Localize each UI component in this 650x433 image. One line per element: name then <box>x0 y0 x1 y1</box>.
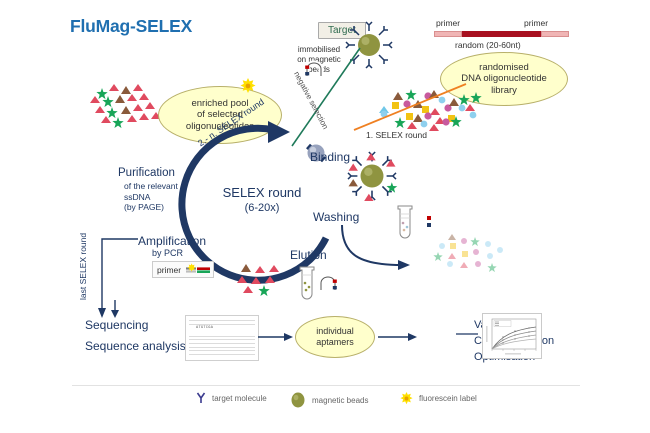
step-amplification-label: Amplification <box>138 234 206 248</box>
binding-curve-chart <box>482 313 542 359</box>
legend-label-magnetic-beads: magnetic beads <box>312 396 368 405</box>
last-round-label: last SELEX round <box>78 233 89 300</box>
page-title: FluMag-SELEX <box>70 16 192 37</box>
library-primer-right-label: primer <box>524 18 548 28</box>
binding-curve-plot <box>483 314 541 358</box>
fluorescein-label-icon <box>400 392 413 405</box>
library-strand-schematic <box>434 31 569 37</box>
cycle-center-title: SELEX round <box>197 185 327 200</box>
last-round-line1: last <box>78 287 88 300</box>
step-sequence-analysis-label: Sequence analysis <box>85 339 186 353</box>
legend-item-target-molecule: target molecule <box>196 392 267 404</box>
library-ellipse-line3: library <box>491 85 517 97</box>
enriched-oligo-pool <box>92 82 164 130</box>
legend-label-fluorescein: fluorescein label <box>419 394 477 403</box>
eluted-oligo-pool <box>236 262 286 296</box>
step-binding-label: Binding <box>310 150 350 164</box>
legend-divider <box>72 385 580 386</box>
step-amplification-sublabel: by PCR <box>152 248 183 258</box>
library-ellipse-line1: randomised <box>479 62 529 74</box>
legend-item-magnetic-beads: magnetic beads <box>290 392 368 408</box>
binding-bead-icon <box>348 152 396 200</box>
elution-magnet-icon <box>318 276 338 292</box>
primer-box-label: primer <box>157 265 181 275</box>
legend-item-fluorescein-label: fluorescein label <box>400 392 477 405</box>
sequence-to-aptamers-arrow <box>258 332 294 342</box>
first-round-arrow <box>348 82 472 134</box>
first-round-label: 1. SELEX round <box>366 130 427 140</box>
aptamers-line2: aptamers <box>316 337 354 348</box>
target-molecule-icon <box>196 392 206 404</box>
elution-tube-icon <box>294 266 320 308</box>
fluorescein-label-icon <box>240 78 256 94</box>
primer-box: primer <box>152 261 214 278</box>
step-elution-label: Elution <box>290 248 327 262</box>
step-purification-label: Purification <box>118 167 175 179</box>
enriched-pool-line1: enriched pool <box>191 98 248 110</box>
step-purification-sublabel: of the relevant ssDNA (by PAGE) <box>124 181 178 213</box>
cycle-center-subtitle: (6-20x) <box>197 202 327 214</box>
sequence-document: ATGTCGA <box>185 315 259 361</box>
library-primer-left-label: primer <box>436 18 460 28</box>
library-ellipse-line2: DNA oligonucleotide <box>461 73 547 85</box>
aptamers-line1: individual <box>316 326 354 337</box>
aptamers-to-outcomes-arrow <box>378 332 418 342</box>
legend-label-target-molecule: target molecule <box>212 394 267 403</box>
step-washing-label: Washing <box>313 210 359 224</box>
washing-magnet-icon <box>418 215 432 229</box>
diagram-canvas: FluMag-SELEX Target immobilised on magne… <box>0 0 650 433</box>
labelled-primer-icon <box>184 265 212 275</box>
to-sequencing-arrow <box>110 300 120 318</box>
purification-sub-line2: ssDNA <box>124 192 150 202</box>
individual-aptamers-ellipse: individual aptamers <box>295 316 375 358</box>
library-random-label: random (20-60nt) <box>455 40 521 50</box>
purification-sub-line3: (by PAGE) <box>124 202 164 212</box>
washing-tube-icon <box>392 205 418 247</box>
washed-oligo-pool <box>432 232 506 274</box>
purification-sub-line1: of the relevant <box>124 181 178 191</box>
magnetic-bead-icon <box>290 392 306 408</box>
step-sequencing-label: Sequencing <box>85 318 148 332</box>
sequence-text: ATGTCGA <box>196 326 213 330</box>
last-round-line2: SELEX round <box>78 233 88 285</box>
